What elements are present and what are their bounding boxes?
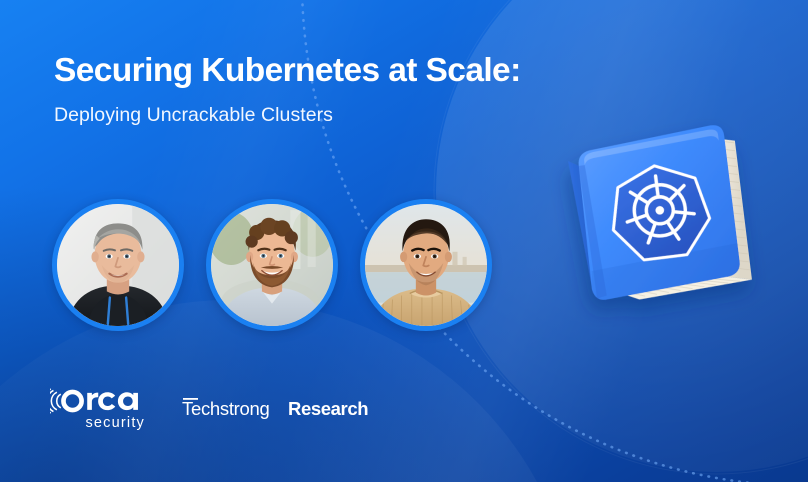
orca-wordmark-icon (50, 387, 146, 415)
logo-row: security Techstrong Research (50, 387, 378, 431)
svg-text:Research: Research (288, 398, 368, 419)
avatar-speaker-1 (52, 199, 184, 331)
avatar-photo (211, 204, 333, 326)
page-subtitle: Deploying Uncrackable Clusters (54, 103, 614, 127)
avatar-speaker-3 (360, 199, 492, 331)
kubernetes-book-icon (548, 112, 778, 327)
techstrong-research-logo: Techstrong Research (182, 395, 378, 421)
avatar-photo (365, 204, 487, 326)
orca-security-logo: security (50, 387, 146, 431)
avatar-photo (57, 204, 179, 326)
techstrong-research-wordmark-icon: Techstrong Research (182, 395, 378, 421)
headline-block: Securing Kubernetes at Scale: Deploying … (54, 52, 614, 127)
orca-tagline: security (85, 416, 145, 431)
svg-text:Techstrong: Techstrong (182, 398, 270, 419)
page-title: Securing Kubernetes at Scale: (54, 52, 614, 91)
speakers-row (52, 199, 492, 331)
webinar-banner: Securing Kubernetes at Scale: Deploying … (0, 0, 808, 482)
avatar-speaker-2 (206, 199, 338, 331)
